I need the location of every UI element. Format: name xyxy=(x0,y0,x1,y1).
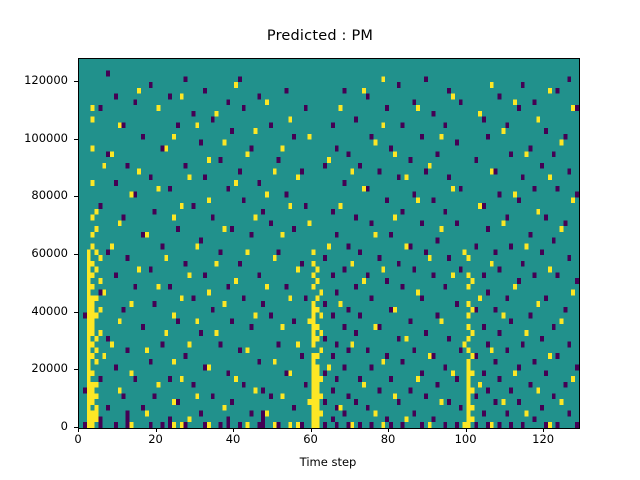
x-axis-label: Time step xyxy=(78,455,578,469)
chart-title: Predicted : PM xyxy=(0,28,640,44)
x-tick-label: 0 xyxy=(48,432,108,446)
matplotlib-figure: Predicted : PM Frequency (Hz) 0200004000… xyxy=(0,0,640,480)
heatmap-plot-area xyxy=(78,58,580,429)
heatmap-image xyxy=(79,59,579,428)
x-tick-label: 40 xyxy=(203,432,263,446)
x-tick-label: 80 xyxy=(358,432,418,446)
x-tick-label: 20 xyxy=(126,432,186,446)
x-tick-label: 120 xyxy=(513,432,573,446)
x-tick-label: 100 xyxy=(436,432,496,446)
x-tick-label: 60 xyxy=(281,432,341,446)
